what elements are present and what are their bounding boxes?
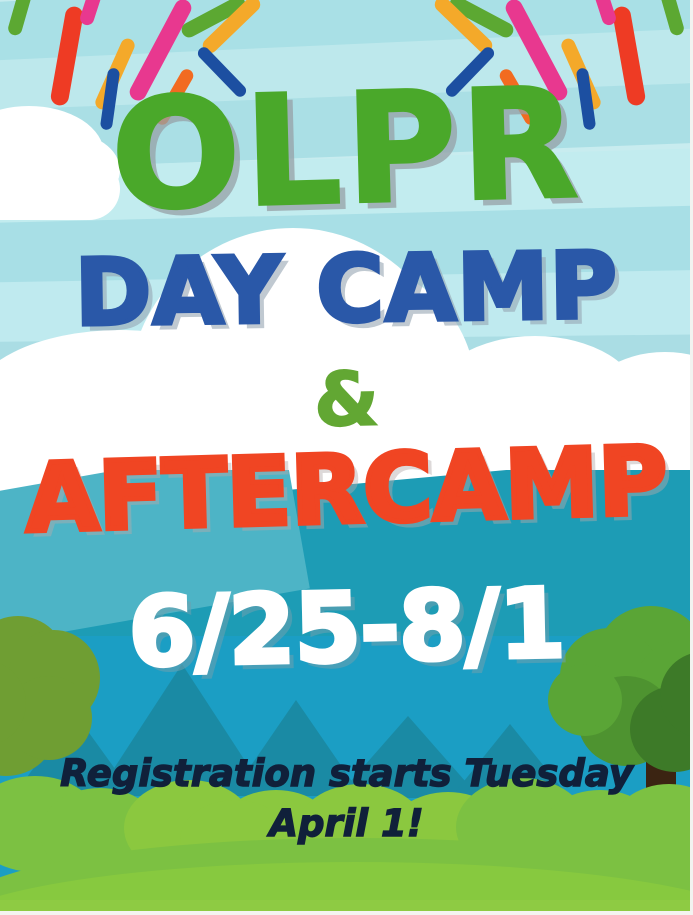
title-olpr: OLPR bbox=[0, 65, 693, 235]
title-aftercamp: AFTERCAMP bbox=[0, 434, 693, 547]
scan-edge-bottom bbox=[0, 911, 693, 915]
registration-line-1: Registration starts Tuesday bbox=[0, 752, 693, 795]
flyer-poster: OLPR DAY CAMP & AFTERCAMP 6/25-8/1 Regis… bbox=[0, 0, 693, 915]
title-day-camp: DAY CAMP bbox=[0, 239, 693, 341]
camp-dates: 6/25-8/1 bbox=[0, 573, 693, 683]
registration-line-2: April 1! bbox=[0, 802, 693, 845]
